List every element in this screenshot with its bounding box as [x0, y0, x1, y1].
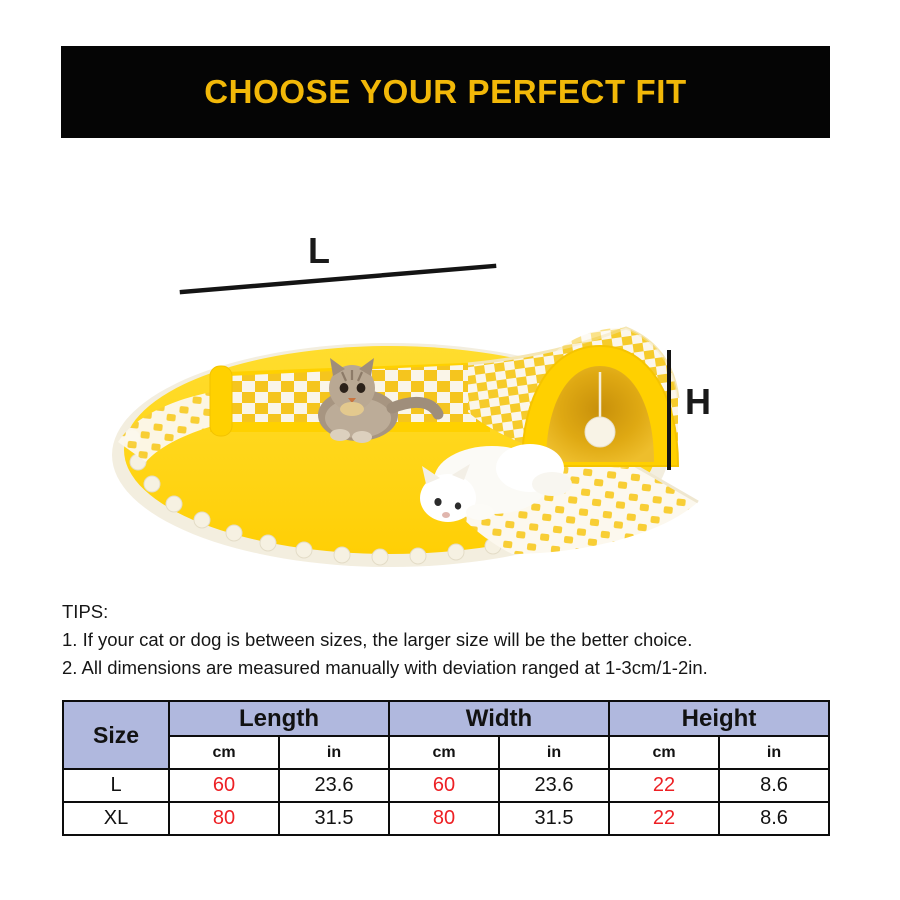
cell-length-cm: 60 — [169, 769, 279, 802]
tips-line-1: 1. If your cat or dog is between sizes, … — [62, 626, 842, 654]
header-size: Size — [63, 701, 169, 769]
header-banner: CHOOSE YOUR PERFECT FIT — [61, 46, 830, 138]
cell-length-in: 23.6 — [279, 769, 389, 802]
table-row: L 60 23.6 60 23.6 22 8.6 — [63, 769, 829, 802]
cell-height-in: 8.6 — [719, 769, 829, 802]
cell-size: XL — [63, 802, 169, 835]
product-image-area: L H — [60, 150, 840, 580]
size-table: Size Length Width Height cm in cm in cm … — [62, 700, 830, 836]
cell-length-in: 31.5 — [279, 802, 389, 835]
cell-width-in: 23.6 — [499, 769, 609, 802]
tips-heading: TIPS: — [62, 598, 842, 626]
header-width: Width — [389, 701, 609, 736]
cell-height-cm: 22 — [609, 769, 719, 802]
header-height-cm: cm — [609, 736, 719, 769]
header-height: Height — [609, 701, 829, 736]
header-length-in: in — [279, 736, 389, 769]
product-illustration — [60, 150, 840, 580]
cell-width-cm: 80 — [389, 802, 499, 835]
height-marker-line — [667, 350, 671, 470]
tips-line-2: 2. All dimensions are measured manually … — [62, 654, 842, 682]
height-marker-label: H — [685, 384, 711, 420]
header-width-cm: cm — [389, 736, 499, 769]
length-marker-line — [178, 262, 498, 296]
header-height-in: in — [719, 736, 829, 769]
page-title: CHOOSE YOUR PERFECT FIT — [204, 73, 687, 111]
tips-block: TIPS: 1. If your cat or dog is between s… — [62, 598, 842, 682]
cell-width-cm: 60 — [389, 769, 499, 802]
table-header-row-groups: Size Length Width Height — [63, 701, 829, 736]
header-length: Length — [169, 701, 389, 736]
cell-height-in: 8.6 — [719, 802, 829, 835]
cell-width-in: 31.5 — [499, 802, 609, 835]
cell-height-cm: 22 — [609, 802, 719, 835]
table-row: XL 80 31.5 80 31.5 22 8.6 — [63, 802, 829, 835]
size-chart: Size Length Width Height cm in cm in cm … — [62, 700, 830, 836]
cell-length-cm: 80 — [169, 802, 279, 835]
header-length-cm: cm — [169, 736, 279, 769]
header-width-in: in — [499, 736, 609, 769]
cell-size: L — [63, 769, 169, 802]
length-marker-label: L — [308, 233, 330, 269]
table-header-row-units: cm in cm in cm in — [63, 736, 829, 769]
